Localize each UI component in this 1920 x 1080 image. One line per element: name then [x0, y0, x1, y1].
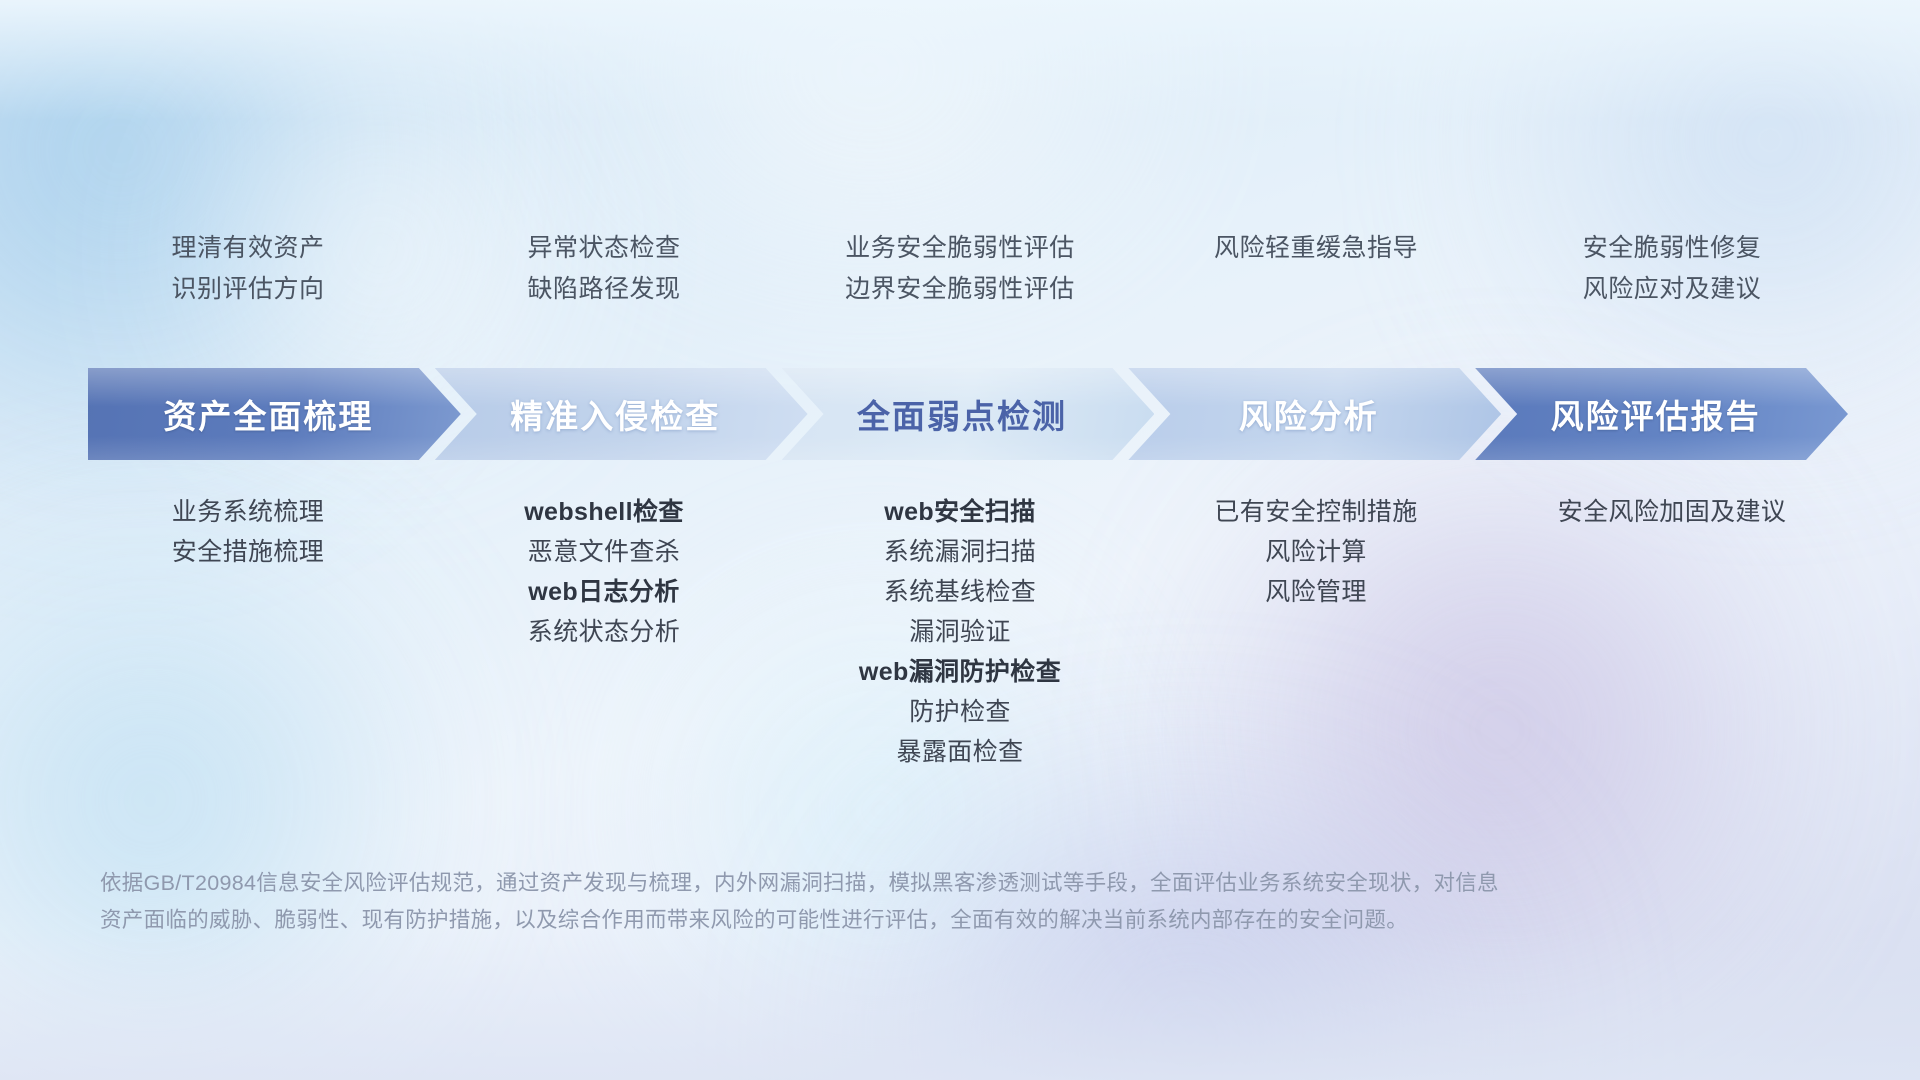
slide-canvas: 理清有效资产 识别评估方向 异常状态检查 缺陷路径发现 业务安全脆弱性评估 边界… [0, 0, 1920, 1080]
top-annotation: 安全脆弱性修复 [1494, 228, 1850, 269]
stage-arrow-label: 全面弱点检测 [857, 390, 1067, 438]
top-annotation: 缺陷路径发现 [426, 269, 782, 310]
top-annotations-asset-inventory: 理清有效资产 识别评估方向 [70, 228, 426, 309]
top-annotation: 识别评估方向 [70, 269, 426, 310]
stage-arrow-weakness-detection[interactable]: 全面弱点检测 [782, 368, 1155, 460]
footer-line: 资产面临的威胁、脆弱性、现有防护措施，以及综合作用而带来风险的可能性进行评估，全… [100, 902, 1630, 939]
stage-arrow-label: 风险分析 [1239, 390, 1379, 438]
stage-details-assessment-report: 安全风险加固及建议 [1494, 492, 1850, 532]
stage-arrow-intrusion-check[interactable]: 精准入侵检查 [435, 368, 808, 460]
top-annotation: 理清有效资产 [70, 228, 426, 269]
list-item: 安全措施梳理 [70, 532, 426, 572]
list-item: 已有安全控制措施 [1138, 492, 1494, 532]
stage-arrow-label: 精准入侵检查 [510, 390, 720, 438]
top-annotation: 业务安全脆弱性评估 [782, 228, 1138, 269]
list-item: 风险管理 [1138, 572, 1494, 612]
list-item: 防护检查 [782, 692, 1138, 732]
list-item: 安全风险加固及建议 [1494, 492, 1850, 532]
stage-details-risk-analysis: 已有安全控制措施 风险计算 风险管理 [1138, 492, 1494, 612]
list-item: 系统基线检查 [782, 572, 1138, 612]
top-annotation: 风险轻重缓急指导 [1138, 228, 1494, 269]
stage-arrow-label: 风险评估报告 [1551, 390, 1761, 438]
top-annotations-weakness-detection: 业务安全脆弱性评估 边界安全脆弱性评估 [782, 228, 1138, 309]
stage-details-intrusion-check: webshell检查 恶意文件查杀 web日志分析 系统状态分析 [426, 492, 782, 652]
top-annotations-intrusion-check: 异常状态检查 缺陷路径发现 [426, 228, 782, 309]
top-annotations-row: 理清有效资产 识别评估方向 异常状态检查 缺陷路径发现 业务安全脆弱性评估 边界… [70, 228, 1850, 309]
stage-arrow-label: 资产全面梳理 [163, 390, 373, 438]
process-arrow-band: 资产全面梳理 精准入侵检查 全面弱点检测 风险分析 风险评估报告 [88, 368, 1848, 460]
stage-arrow-assessment-report[interactable]: 风险评估报告 [1475, 368, 1848, 460]
list-item: 恶意文件查杀 [426, 532, 782, 572]
list-item: 风险计算 [1138, 532, 1494, 572]
footer-description: 依据GB/T20984信息安全风险评估规范，通过资产发现与梳理，内外网漏洞扫描，… [100, 865, 1630, 939]
stage-arrow-risk-analysis[interactable]: 风险分析 [1128, 368, 1501, 460]
stage-details-asset-inventory: 业务系统梳理 安全措施梳理 [70, 492, 426, 572]
list-item: 暴露面检查 [782, 732, 1138, 772]
list-item: web日志分析 [426, 572, 782, 612]
stage-arrow-asset-inventory[interactable]: 资产全面梳理 [88, 368, 461, 460]
top-annotation: 风险应对及建议 [1494, 269, 1850, 310]
top-annotation: 异常状态检查 [426, 228, 782, 269]
stage-details-row: 业务系统梳理 安全措施梳理 webshell检查 恶意文件查杀 web日志分析 … [70, 492, 1850, 772]
top-annotations-assessment-report: 安全脆弱性修复 风险应对及建议 [1494, 228, 1850, 309]
list-item: webshell检查 [426, 492, 782, 532]
footer-line: 依据GB/T20984信息安全风险评估规范，通过资产发现与梳理，内外网漏洞扫描，… [100, 865, 1630, 902]
top-annotation: 边界安全脆弱性评估 [782, 269, 1138, 310]
list-item: 业务系统梳理 [70, 492, 426, 532]
list-item: web安全扫描 [782, 492, 1138, 532]
list-item: web漏洞防护检查 [782, 652, 1138, 692]
list-item: 系统漏洞扫描 [782, 532, 1138, 572]
top-annotations-risk-analysis: 风险轻重缓急指导 [1138, 228, 1494, 309]
stage-details-weakness-detection: web安全扫描 系统漏洞扫描 系统基线检查 漏洞验证 web漏洞防护检查 防护检… [782, 492, 1138, 772]
list-item: 漏洞验证 [782, 612, 1138, 652]
list-item: 系统状态分析 [426, 612, 782, 652]
